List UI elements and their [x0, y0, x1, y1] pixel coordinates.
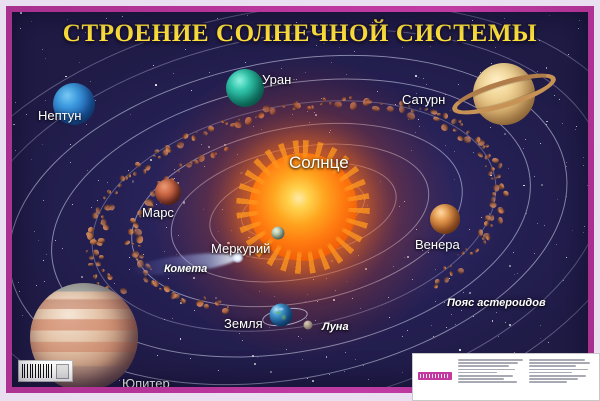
page-title: СТРОЕНИЕ СОЛНЕЧНОЙ СИСТЕМЫ — [12, 20, 588, 48]
uranus-sphere — [226, 69, 264, 107]
label-comet: Комета — [164, 263, 207, 275]
label-earth: Земля — [224, 316, 263, 331]
planet-mars — [155, 179, 181, 205]
publisher-text-column-right — [529, 358, 594, 396]
label-mercury: Меркурий — [211, 241, 270, 256]
venus-sphere — [430, 204, 460, 234]
planet-venus — [430, 204, 460, 234]
label-venus: Венера — [415, 237, 460, 252]
barcode-logo-icon — [56, 364, 69, 379]
moon — [304, 321, 313, 330]
planet-saturn — [473, 63, 535, 125]
planet-uranus — [226, 69, 264, 107]
publisher-info-card — [412, 353, 600, 401]
mercury-sphere — [272, 227, 285, 240]
label-saturn: Сатурн — [402, 92, 445, 107]
label-moon: Луна — [322, 321, 349, 333]
label-jupiter: Юпитер — [122, 376, 170, 387]
label-asteroid-belt: Пояс астероидов — [447, 297, 546, 309]
planet-earth — [270, 304, 293, 327]
label-sun: Солнце — [289, 153, 349, 173]
poster: СТРОЕНИЕ СОЛНЕЧНОЙ СИСТЕМЫ Нептун Уран С… — [0, 0, 600, 401]
barcode-lines — [22, 364, 53, 378]
barcode — [18, 360, 73, 382]
planet-mercury — [272, 227, 285, 240]
mars-sphere — [155, 179, 181, 205]
label-mars: Марс — [142, 205, 174, 220]
label-uranus: Уран — [262, 72, 291, 87]
earth-sphere — [270, 304, 293, 327]
moon-sphere — [304, 321, 313, 330]
poster-frame: СТРОЕНИЕ СОЛНЕЧНОЙ СИСТЕМЫ Нептун Уран С… — [6, 6, 594, 393]
publisher-text-column-left — [458, 358, 523, 396]
publisher-logo-icon — [418, 372, 452, 380]
space-scene: СТРОЕНИЕ СОЛНЕЧНОЙ СИСТЕМЫ Нептун Уран С… — [12, 12, 588, 387]
label-neptune: Нептун — [38, 108, 81, 123]
